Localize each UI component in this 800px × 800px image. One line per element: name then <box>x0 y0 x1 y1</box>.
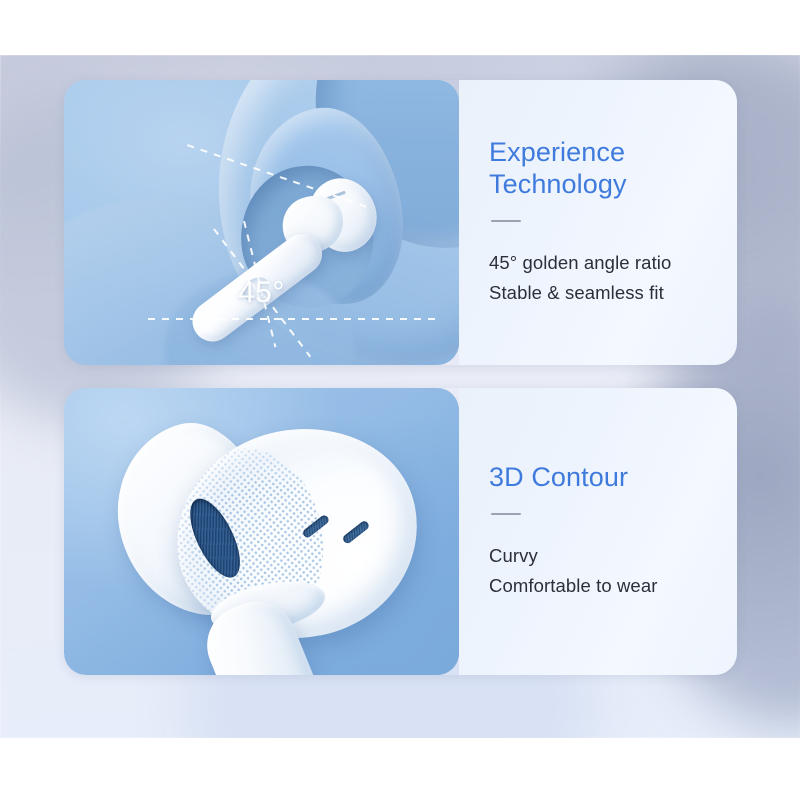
ear-with-earbud-45-degree-diagram: 45° <box>64 80 459 365</box>
top-white-band <box>0 0 800 55</box>
feature-body-line: Stable & seamless fit <box>489 278 737 308</box>
feature-card-experience-technology: 45° Experience Technology 45° golden ang… <box>64 80 737 365</box>
feature-body-line: Curvy <box>489 541 737 571</box>
bottom-white-band <box>0 738 800 800</box>
earbud-head-closeup <box>64 388 459 675</box>
feature-body-line: Comfortable to wear <box>489 571 737 601</box>
feature-heading: 3D Contour <box>489 462 737 494</box>
feature-card-3d-contour: 3D Contour Curvy Comfortable to wear <box>64 388 737 675</box>
feature-text-panel: Experience Technology 45° golden angle r… <box>459 80 737 365</box>
feature-heading: Experience Technology <box>489 137 737 201</box>
ear-illustration: 45° <box>64 80 459 365</box>
feature-text-panel: 3D Contour Curvy Comfortable to wear <box>459 388 737 675</box>
feature-body-line: 45° golden angle ratio <box>489 248 737 278</box>
earbud-illustration <box>64 388 459 675</box>
dashed-guide-line-baseline <box>148 318 438 320</box>
angle-value-label: 45° <box>238 276 285 310</box>
product-feature-image: 45° Experience Technology 45° golden ang… <box>0 0 800 800</box>
earbud-vent-slot-icon <box>341 519 370 545</box>
heading-divider <box>491 513 521 515</box>
heading-divider <box>491 220 521 222</box>
